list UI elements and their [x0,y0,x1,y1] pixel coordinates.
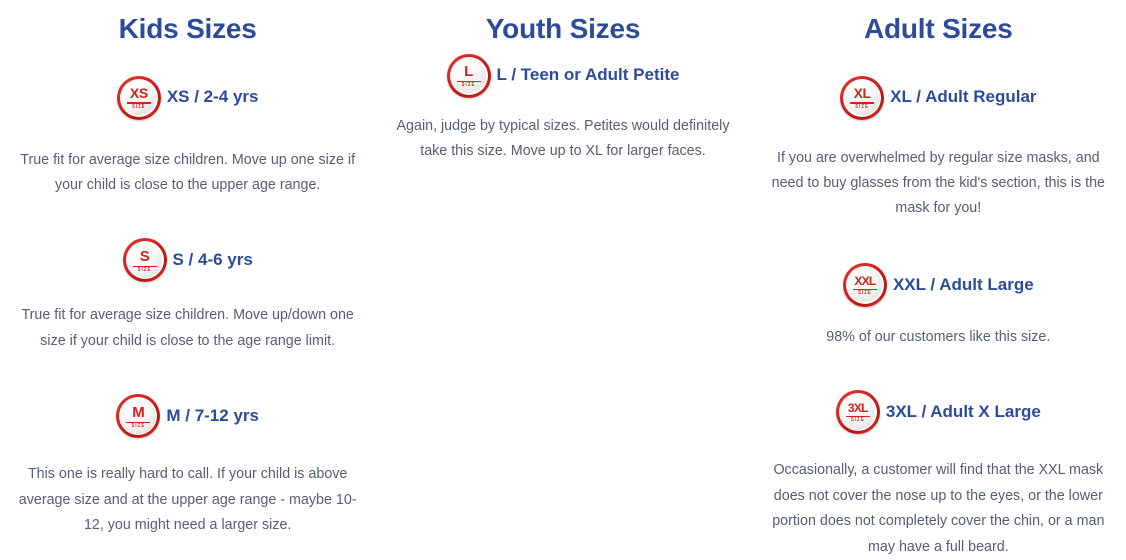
size-badge-sublabel: SIZE [855,104,869,109]
size-label: XXL / Adult Large [893,275,1034,295]
size-badge-icon: M SIZE [116,394,160,438]
size-badge-inner: XXL SIZE [847,267,882,302]
size-badge-icon: XL SIZE [840,76,884,120]
size-description: This one is really hard to call. If your… [12,462,363,538]
size-description: 98% of our customers like this size. [763,325,1114,350]
size-entry: S SIZE S / 4-6 yrs True fit for average … [12,238,363,354]
size-badge-sublabel: SIZE [132,104,146,109]
size-badge-sublabel: SIZE [462,83,476,88]
size-badge-text: 3XL [848,402,868,415]
size-label: L / Teen or Adult Petite [497,65,680,85]
size-column-kids: Kids Sizes XS SIZE XS / 2-4 yrs True fit… [0,0,375,539]
size-description: If you are overwhelmed by regular size m… [763,146,1114,222]
size-label: 3XL / Adult X Large [886,402,1041,422]
size-badge-icon: 3XL SIZE [836,390,880,434]
size-entry: M SIZE M / 7-12 yrs This one is really h… [12,394,363,538]
size-badge-inner: S SIZE [127,243,162,278]
size-row: XL SIZE XL / Adult Regular [763,76,1114,120]
size-badge-inner: XL SIZE [845,80,880,115]
size-badge-inner: L SIZE [451,58,486,93]
size-badge-sublabel: SIZE [138,267,152,272]
size-description: Occasionally, a customer will find that … [763,458,1114,560]
column-heading-kids: Kids Sizes [12,12,363,46]
size-badge-icon: S SIZE [123,238,167,282]
column-heading-adult: Adult Sizes [763,12,1114,46]
size-label: XL / Adult Regular [890,87,1036,107]
size-guide: Kids Sizes XS SIZE XS / 2-4 yrs True fit… [0,0,1126,539]
size-entry: XS SIZE XS / 2-4 yrs True fit for averag… [12,76,363,199]
size-entry: XXL SIZE XXL / Adult Large 98% of our cu… [763,263,1114,350]
size-row: S SIZE S / 4-6 yrs [12,238,363,282]
size-description: Again, judge by typical sizes. Petites w… [387,114,738,165]
size-badge-text: XS [130,86,148,101]
size-badge-sublabel: SIZE [851,418,865,423]
size-badge-text: M [132,405,144,421]
size-entry: XL SIZE XL / Adult Regular If you are ov… [763,76,1114,222]
size-entry: L SIZE L / Teen or Adult Petite Again, j… [387,54,738,165]
size-label: M / 7-12 yrs [166,406,259,426]
size-badge-inner: M SIZE [121,399,156,434]
column-heading-youth: Youth Sizes [387,12,738,46]
size-badge-text: XXL [854,275,875,288]
size-badge-sublabel: SIZE [858,290,872,295]
size-badge-sublabel: SIZE [132,423,146,428]
size-badge-icon: XXL SIZE [843,263,887,307]
size-row: XXL SIZE XXL / Adult Large [763,263,1114,307]
size-badge-text: L [464,64,473,80]
size-badge-text: S [140,249,150,265]
size-entry: 3XL SIZE 3XL / Adult X Large Occasionall… [763,390,1114,560]
size-badge-inner: XS SIZE [121,80,156,115]
size-row: M SIZE M / 7-12 yrs [12,394,363,438]
size-row: L SIZE L / Teen or Adult Petite [387,54,738,98]
size-badge-text: XL [854,86,871,101]
size-badge-icon: XS SIZE [117,76,161,120]
size-column-adult: Adult Sizes XL SIZE XL / Adult Regular I… [751,0,1126,560]
size-description: True fit for average size children. Move… [12,303,363,354]
size-description: True fit for average size children. Move… [12,148,363,199]
size-row: 3XL SIZE 3XL / Adult X Large [763,390,1114,434]
size-badge-inner: 3XL SIZE [840,395,875,430]
size-badge-icon: L SIZE [447,54,491,98]
size-row: XS SIZE XS / 2-4 yrs [12,76,363,120]
size-label: S / 4-6 yrs [173,250,253,270]
size-label: XS / 2-4 yrs [167,87,259,107]
size-column-youth: Youth Sizes L SIZE L / Teen or Adult Pet… [375,0,750,164]
